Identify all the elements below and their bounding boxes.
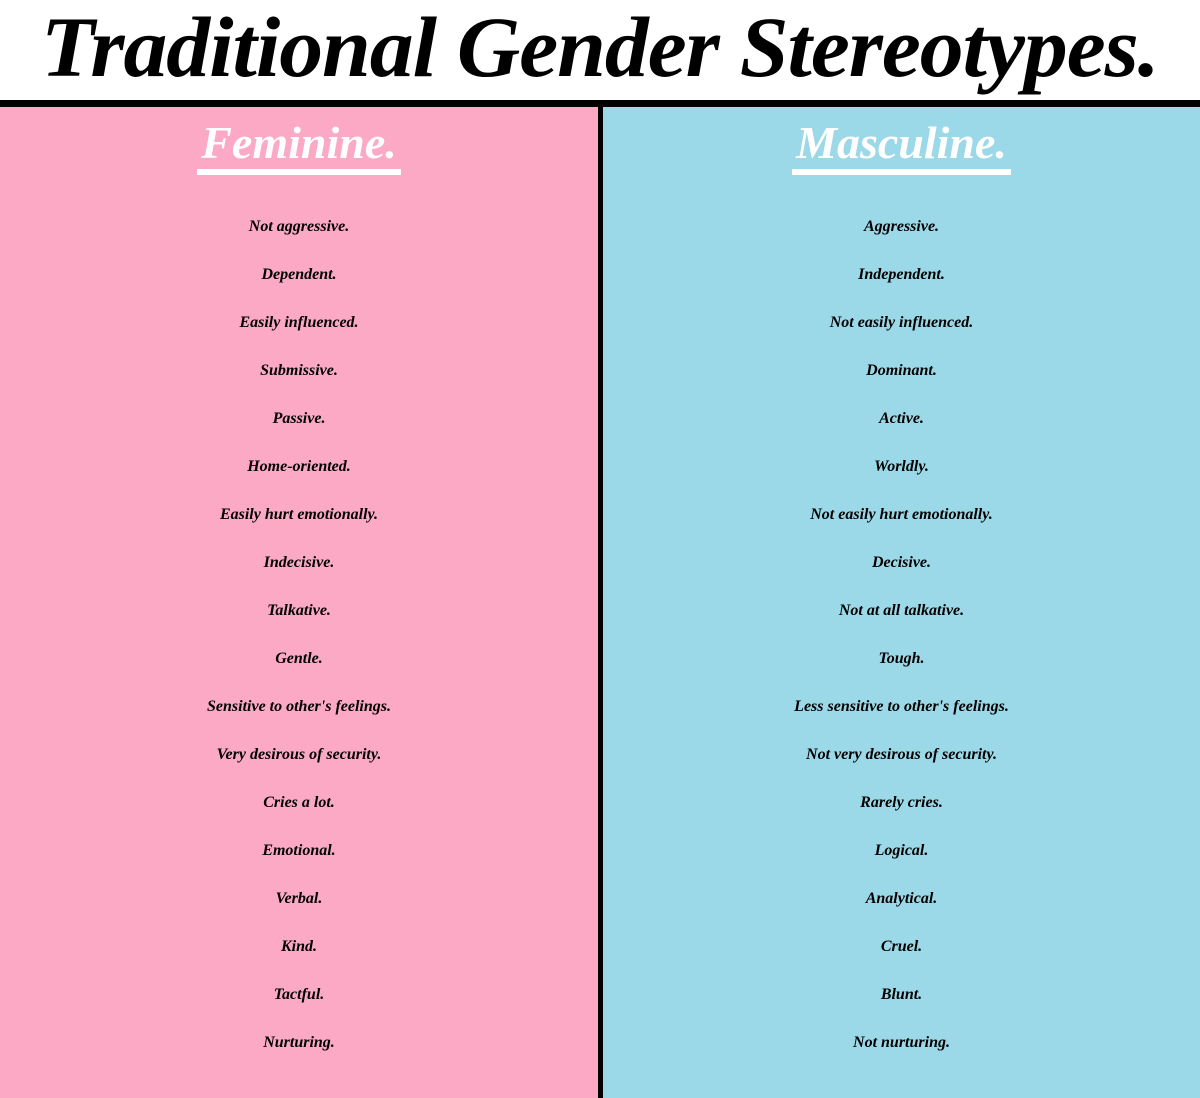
masculine-column: Masculine. Aggressive. Independent. Not …	[603, 107, 1200, 1098]
list-item: Passive.	[0, 395, 598, 443]
list-item: Indecisive.	[0, 539, 598, 587]
list-item: Dominant.	[603, 347, 1200, 395]
list-item: Emotional.	[0, 827, 598, 875]
list-item: Easily influenced.	[0, 299, 598, 347]
list-item: Not easily hurt emotionally.	[603, 491, 1200, 539]
masculine-column-header: Masculine.	[603, 107, 1200, 203]
title-band: Traditional Gender Stereotypes.	[0, 0, 1200, 100]
list-item: Not aggressive.	[0, 203, 598, 251]
list-item: Active.	[603, 395, 1200, 443]
feminine-column-header: Feminine.	[0, 107, 598, 203]
list-item: Blunt.	[603, 971, 1200, 1019]
list-item: Tactful.	[0, 971, 598, 1019]
list-item: Home-oriented.	[0, 443, 598, 491]
list-item: Not easily influenced.	[603, 299, 1200, 347]
list-item: Talkative.	[0, 587, 598, 635]
title-divider-rule	[0, 100, 1200, 107]
masculine-trait-list: Aggressive. Independent. Not easily infl…	[603, 203, 1200, 1067]
comparison-columns: Feminine. Not aggressive. Dependent. Eas…	[0, 107, 1200, 1098]
list-item: Decisive.	[603, 539, 1200, 587]
list-item: Dependent.	[0, 251, 598, 299]
feminine-header-label: Feminine.	[197, 119, 401, 175]
list-item: Not very desirous of security.	[603, 731, 1200, 779]
list-item: Submissive.	[0, 347, 598, 395]
masculine-header-label: Masculine.	[792, 119, 1011, 175]
page-title: Traditional Gender Stereotypes.	[41, 7, 1159, 93]
list-item: Verbal.	[0, 875, 598, 923]
feminine-trait-list: Not aggressive. Dependent. Easily influe…	[0, 203, 598, 1067]
list-item: Independent.	[603, 251, 1200, 299]
list-item: Very desirous of security.	[0, 731, 598, 779]
list-item: Rarely cries.	[603, 779, 1200, 827]
list-item: Analytical.	[603, 875, 1200, 923]
list-item: Less sensitive to other's feelings.	[603, 683, 1200, 731]
list-item: Cruel.	[603, 923, 1200, 971]
list-item: Not at all talkative.	[603, 587, 1200, 635]
list-item: Aggressive.	[603, 203, 1200, 251]
stereotypes-poster: Traditional Gender Stereotypes. Feminine…	[0, 0, 1200, 1098]
feminine-column: Feminine. Not aggressive. Dependent. Eas…	[0, 107, 598, 1098]
list-item: Cries a lot.	[0, 779, 598, 827]
list-item: Gentle.	[0, 635, 598, 683]
list-item: Easily hurt emotionally.	[0, 491, 598, 539]
list-item: Kind.	[0, 923, 598, 971]
list-item: Sensitive to other's feelings.	[0, 683, 598, 731]
list-item: Not nurturing.	[603, 1019, 1200, 1067]
list-item: Logical.	[603, 827, 1200, 875]
list-item: Tough.	[603, 635, 1200, 683]
list-item: Worldly.	[603, 443, 1200, 491]
list-item: Nurturing.	[0, 1019, 598, 1067]
